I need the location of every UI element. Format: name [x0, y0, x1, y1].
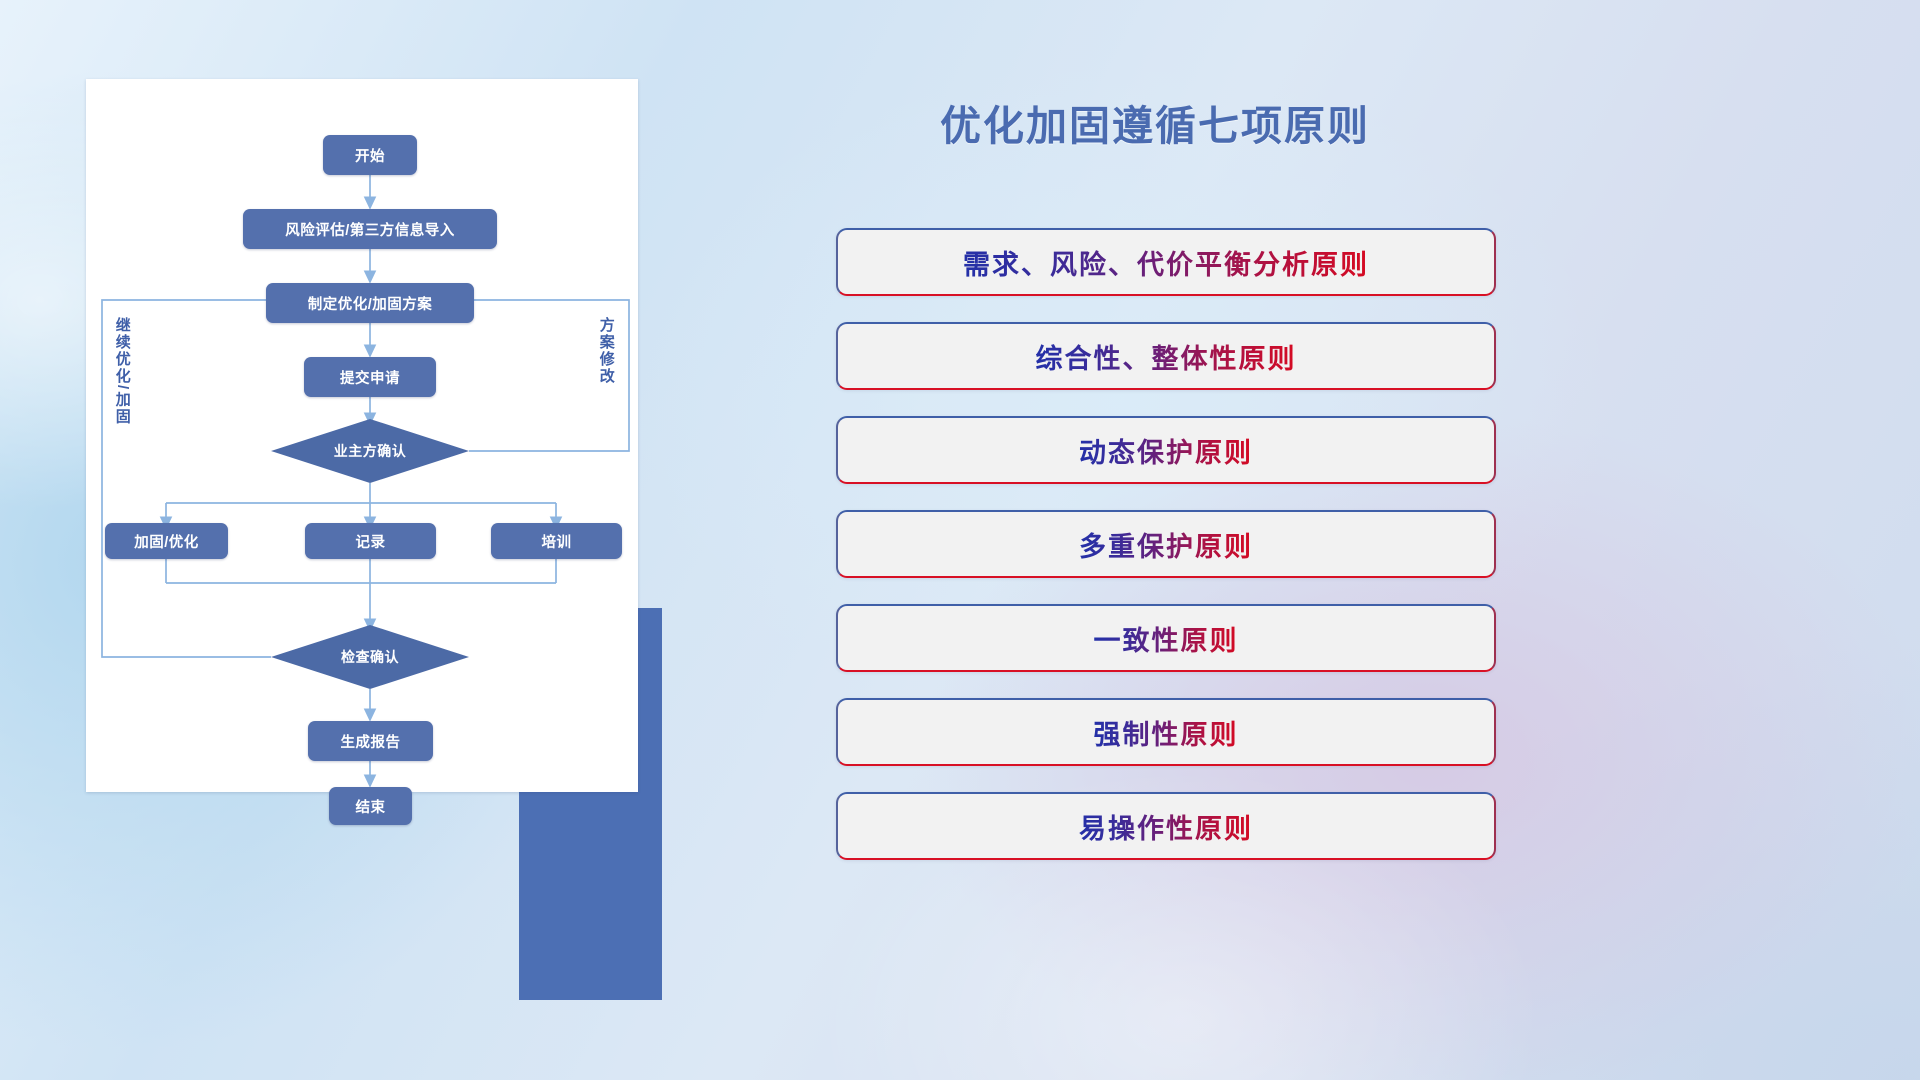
diamond-owner-confirm	[271, 419, 469, 483]
flow-node-submit[interactable]: 提交申请	[304, 357, 436, 397]
diamond-check-confirm	[271, 625, 469, 689]
flow-edge-label-continue-optimize: 继续优化/加固	[114, 317, 130, 425]
principle-card-label: 综合性、整体性原则	[1036, 337, 1297, 376]
flowchart-card: 业主方确认 检查确认 开始 风险评估/第三方信息导入 制定优化/加固方案 提交申…	[86, 79, 638, 792]
principles-panel: 优化加固遵循七项原则 需求、风险、代价平衡分析原则 综合性、整体性原则 动态保护…	[840, 0, 1920, 1080]
principle-card-7[interactable]: 易操作性原则	[836, 792, 1496, 860]
slide-stage: 业主方确认 检查确认 开始 风险评估/第三方信息导入 制定优化/加固方案 提交申…	[0, 0, 1920, 1080]
principle-card-label: 动态保护原则	[1079, 431, 1253, 470]
principle-card-label: 强制性原则	[1094, 713, 1239, 752]
principle-card-label: 需求、风险、代价平衡分析原则	[963, 243, 1369, 282]
principle-card-label: 一致性原则	[1094, 619, 1239, 658]
flow-node-record[interactable]: 记录	[305, 523, 436, 559]
flow-node-training[interactable]: 培训	[491, 523, 622, 559]
principle-card-1[interactable]: 需求、风险、代价平衡分析原则	[836, 228, 1496, 296]
panel-title: 优化加固遵循七项原则	[940, 92, 1500, 152]
principle-card-3[interactable]: 动态保护原则	[836, 416, 1496, 484]
flow-node-end[interactable]: 结束	[329, 787, 412, 825]
principle-card-label: 易操作性原则	[1079, 807, 1253, 846]
principles-card-list: 需求、风险、代价平衡分析原则 综合性、整体性原则 动态保护原则 多重保护原则 一…	[836, 228, 1496, 886]
flowchart-connectors	[86, 79, 638, 792]
flow-node-report[interactable]: 生成报告	[308, 721, 433, 761]
flow-node-plan[interactable]: 制定优化/加固方案	[266, 283, 474, 323]
flow-node-reinforce[interactable]: 加固/优化	[105, 523, 228, 559]
flow-edge-label-plan-revision: 方案修改	[598, 317, 614, 385]
principle-card-6[interactable]: 强制性原则	[836, 698, 1496, 766]
principle-card-4[interactable]: 多重保护原则	[836, 510, 1496, 578]
principle-card-label: 多重保护原则	[1079, 525, 1253, 564]
principle-card-2[interactable]: 综合性、整体性原则	[836, 322, 1496, 390]
flow-node-risk-assessment[interactable]: 风险评估/第三方信息导入	[243, 209, 497, 249]
principle-card-5[interactable]: 一致性原则	[836, 604, 1496, 672]
flow-node-start[interactable]: 开始	[323, 135, 417, 175]
